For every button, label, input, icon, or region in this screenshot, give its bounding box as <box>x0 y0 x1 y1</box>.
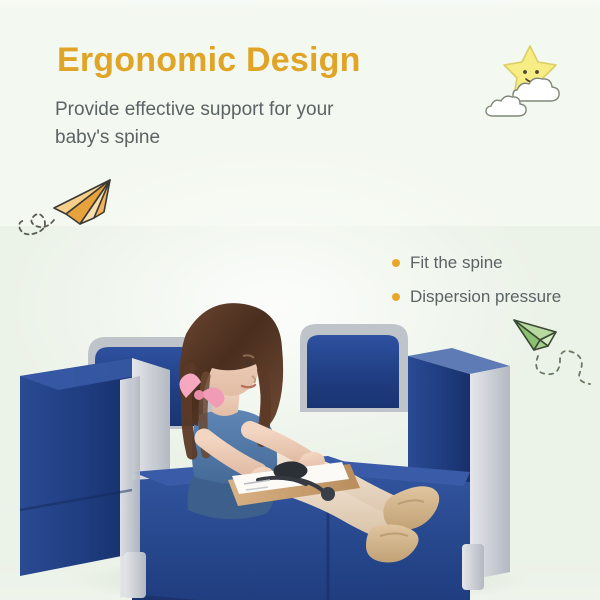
feature-label: Fit the spine <box>410 253 503 273</box>
page-subtitle: Provide effective support for your baby'… <box>55 96 385 152</box>
list-item: Fit the spine <box>392 246 592 280</box>
bullet-dot-icon <box>392 259 400 267</box>
paper-airplane-orange-icon <box>8 168 120 258</box>
product-feature-banner: Ergonomic Design Provide effective suppo… <box>0 0 600 600</box>
page-title: Ergonomic Design <box>57 41 361 80</box>
background-edge-top <box>0 0 600 12</box>
bullet-dot-icon <box>392 293 400 301</box>
star-cloud-icon <box>484 32 580 128</box>
paper-airplane-green-icon <box>504 298 600 398</box>
